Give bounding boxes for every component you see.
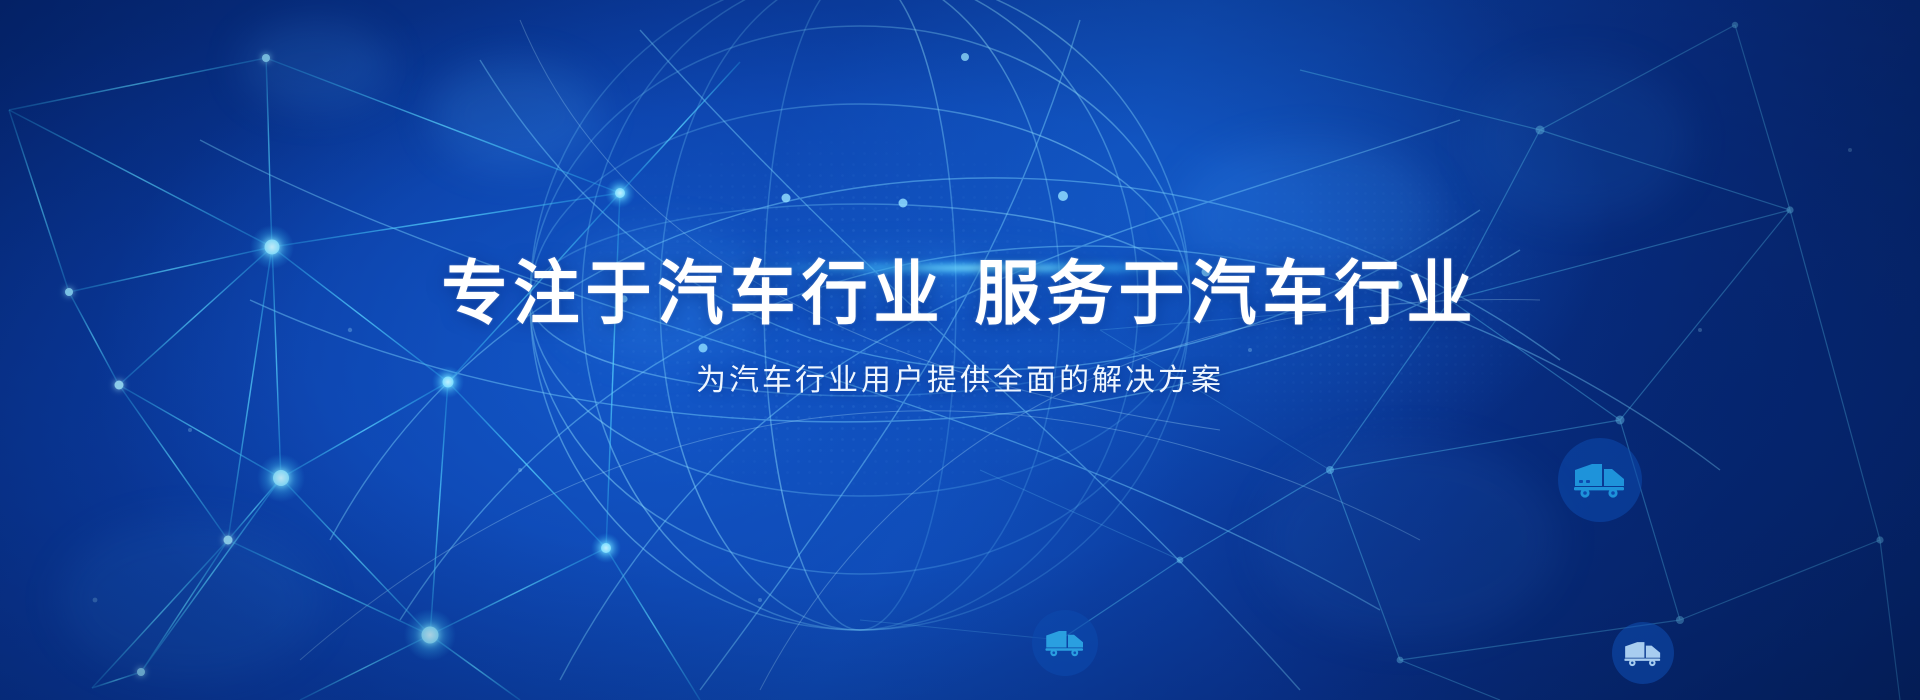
hero-text-block: 专注于汽车行业 服务于汽车行业 为汽车行业用户提供全面的解决方案 xyxy=(0,0,1920,700)
hero-subtitle: 为汽车行业用户提供全面的解决方案 xyxy=(696,355,1224,399)
truck-badge-right-lower[interactable] xyxy=(1612,622,1674,684)
hero-title: 专注于汽车行业 服务于汽车行业 xyxy=(442,255,1479,333)
truck-icon xyxy=(1044,628,1086,658)
truck-icon xyxy=(1623,639,1663,668)
truck-icon xyxy=(1572,460,1628,500)
truck-badge-center-lower[interactable] xyxy=(1032,610,1098,676)
truck-badge-right-upper[interactable] xyxy=(1558,438,1642,522)
hero-banner: 专注于汽车行业 服务于汽车行业 为汽车行业用户提供全面的解决方案 xyxy=(0,0,1920,700)
